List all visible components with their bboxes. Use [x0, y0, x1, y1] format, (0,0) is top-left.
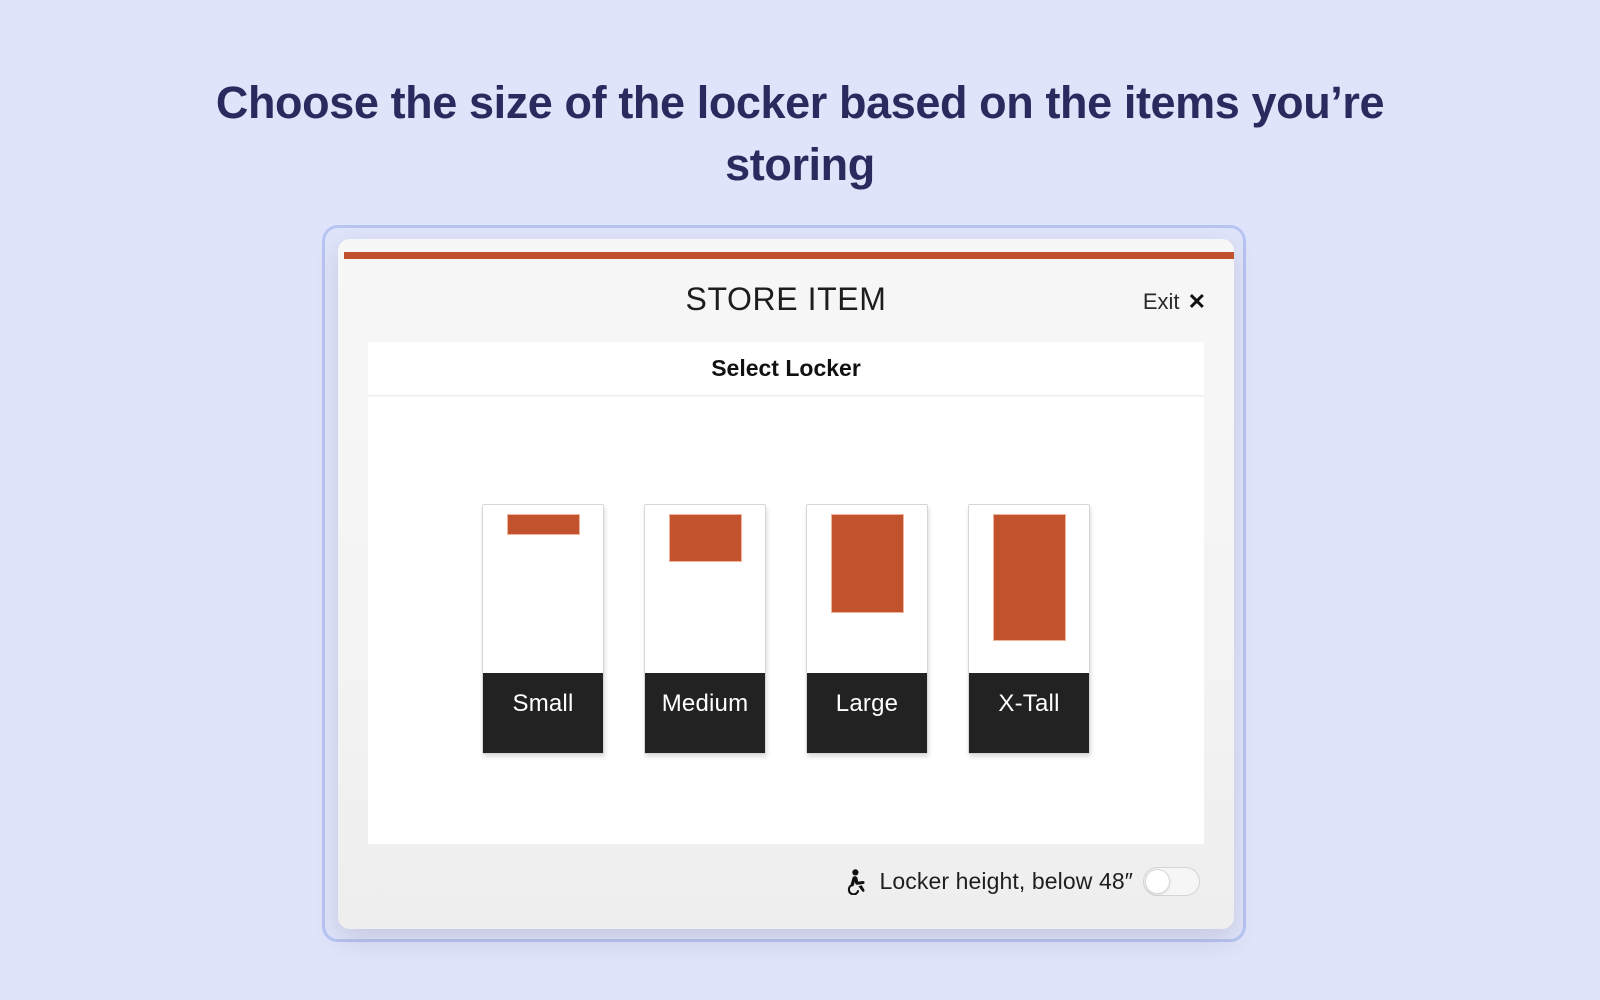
locker-option-label: Large	[836, 690, 898, 718]
locker-preview	[969, 505, 1089, 673]
accessibility-option-label: Locker height, below 48″	[880, 868, 1133, 895]
locker-options-list: SmallMediumLargeX-Tall	[368, 504, 1204, 754]
locker-option-card[interactable]: Medium	[644, 504, 766, 754]
locker-preview	[807, 505, 927, 673]
item-size-block	[669, 514, 742, 562]
locker-option-card[interactable]: Large	[806, 504, 928, 754]
locker-option-card[interactable]: X-Tall	[968, 504, 1090, 754]
toggle-knob	[1145, 869, 1170, 894]
modal-titlebar: STORE ITEM Exit ✕	[338, 267, 1234, 342]
accessibility-option-row[interactable]: Locker height, below 48″	[846, 867, 1200, 896]
kiosk-frame: STORE ITEM Exit ✕ Select Locker SmallMed…	[322, 225, 1246, 942]
item-size-block	[507, 514, 580, 535]
locker-selection-panel: SmallMediumLargeX-Tall	[368, 397, 1204, 844]
wheelchair-accessible-icon	[846, 869, 870, 895]
locker-label-footer: Medium	[645, 673, 765, 753]
page-title: Choose the size of the locker based on t…	[150, 72, 1450, 196]
accent-bar	[344, 252, 1234, 259]
modal-title: STORE ITEM	[338, 281, 1234, 318]
locker-option-label: Medium	[662, 690, 749, 718]
locker-preview	[645, 505, 765, 673]
store-item-modal: STORE ITEM Exit ✕ Select Locker SmallMed…	[338, 239, 1234, 929]
locker-label-footer: Large	[807, 673, 927, 753]
locker-preview	[483, 505, 603, 673]
item-size-block	[831, 514, 904, 613]
item-size-block	[993, 514, 1066, 641]
section-header-label: Select Locker	[711, 355, 861, 382]
close-icon: ✕	[1188, 291, 1206, 313]
locker-label-footer: Small	[483, 673, 603, 753]
exit-button[interactable]: Exit ✕	[1143, 289, 1206, 315]
section-header: Select Locker	[368, 342, 1204, 396]
locker-label-footer: X-Tall	[969, 673, 1089, 753]
exit-button-label: Exit	[1143, 289, 1180, 315]
locker-option-label: Small	[512, 690, 573, 718]
locker-option-label: X-Tall	[998, 690, 1059, 718]
accessibility-toggle[interactable]	[1143, 867, 1200, 896]
locker-option-card[interactable]: Small	[482, 504, 604, 754]
